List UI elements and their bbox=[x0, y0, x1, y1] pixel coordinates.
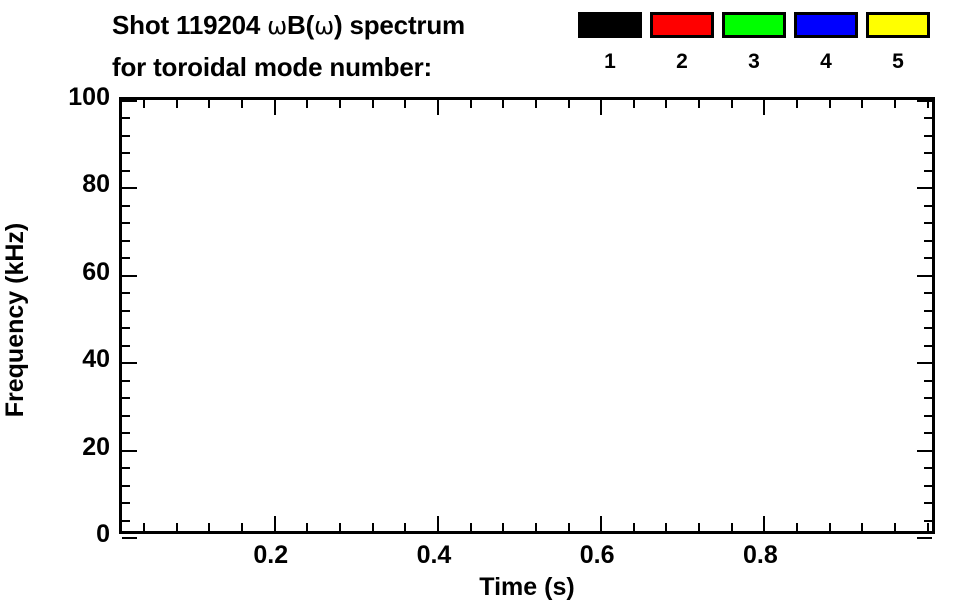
x-minor-tick bbox=[372, 100, 374, 108]
y-major-tick bbox=[122, 362, 137, 364]
figure-canvas: Shot 119204 ωB(ω) spectrum for toroidal … bbox=[0, 0, 963, 615]
x-minor-tick bbox=[502, 523, 504, 531]
x-minor-tick bbox=[829, 523, 831, 531]
legend-entry-3[interactable]: 3 bbox=[722, 12, 786, 38]
x-minor-tick bbox=[665, 523, 667, 531]
y-minor-tick bbox=[924, 345, 932, 347]
y-minor-tick bbox=[122, 432, 130, 434]
x-minor-tick bbox=[143, 523, 145, 531]
y-major-tick bbox=[122, 187, 137, 189]
x-major-tick bbox=[437, 100, 439, 115]
chart-title-mid: B( bbox=[287, 10, 314, 40]
y-minor-tick bbox=[122, 152, 130, 154]
legend-entry-1[interactable]: 1 bbox=[578, 12, 642, 38]
x-minor-tick bbox=[339, 523, 341, 531]
x-minor-tick bbox=[861, 523, 863, 531]
y-minor-tick bbox=[122, 345, 130, 347]
x-axis-title: Time (s) bbox=[119, 573, 935, 601]
x-minor-tick bbox=[698, 100, 700, 108]
x-minor-tick bbox=[894, 523, 896, 531]
chart-title-line-2: for toroidal mode number: bbox=[112, 52, 432, 82]
x-minor-tick bbox=[633, 100, 635, 108]
x-minor-tick bbox=[796, 100, 798, 108]
y-minor-tick bbox=[924, 520, 932, 522]
y-minor-tick bbox=[924, 117, 932, 119]
legend-label-4: 4 bbox=[794, 50, 858, 74]
y-axis-title: Frequency (kHz) bbox=[0, 100, 30, 540]
x-major-tick bbox=[763, 100, 765, 115]
legend-swatch-5 bbox=[866, 12, 930, 38]
x-minor-tick bbox=[698, 523, 700, 531]
x-minor-tick bbox=[208, 523, 210, 531]
y-minor-tick bbox=[122, 170, 130, 172]
x-major-tick bbox=[600, 100, 602, 115]
y-minor-tick bbox=[122, 520, 130, 522]
y-minor-tick bbox=[122, 117, 130, 119]
y-minor-tick bbox=[924, 432, 932, 434]
legend: 1 2 3 4 5 bbox=[578, 12, 930, 90]
x-minor-tick bbox=[404, 100, 406, 108]
x-minor-tick bbox=[372, 523, 374, 531]
omega-symbol-2: ω bbox=[314, 12, 334, 40]
x-minor-tick bbox=[568, 523, 570, 531]
legend-swatch-4 bbox=[794, 12, 858, 38]
y-major-tick bbox=[122, 275, 137, 277]
x-minor-tick bbox=[143, 100, 145, 108]
y-minor-tick bbox=[122, 485, 130, 487]
x-minor-tick bbox=[176, 100, 178, 108]
x-tick-label: 0.2 bbox=[211, 541, 331, 569]
x-minor-tick bbox=[535, 523, 537, 531]
x-minor-tick bbox=[568, 100, 570, 108]
x-minor-tick bbox=[470, 100, 472, 108]
y-major-tick bbox=[917, 187, 932, 189]
x-minor-tick bbox=[502, 100, 504, 108]
y-minor-tick bbox=[122, 502, 130, 504]
y-major-tick bbox=[917, 275, 932, 277]
x-minor-tick bbox=[665, 100, 667, 108]
x-minor-tick bbox=[861, 100, 863, 108]
y-minor-tick bbox=[924, 380, 932, 382]
legend-label-2: 2 bbox=[650, 50, 714, 74]
x-minor-tick bbox=[241, 523, 243, 531]
x-minor-tick bbox=[633, 523, 635, 531]
x-minor-tick bbox=[894, 100, 896, 108]
plot-frame bbox=[119, 97, 935, 534]
y-minor-tick bbox=[924, 170, 932, 172]
y-minor-tick bbox=[924, 310, 932, 312]
x-minor-tick bbox=[731, 100, 733, 108]
legend-label-3: 3 bbox=[722, 50, 786, 74]
plot-data-area[interactable] bbox=[122, 100, 932, 531]
x-major-tick bbox=[600, 516, 602, 531]
legend-entry-2[interactable]: 2 bbox=[650, 12, 714, 38]
y-minor-tick bbox=[122, 257, 130, 259]
y-minor-tick bbox=[924, 485, 932, 487]
legend-swatch-3 bbox=[722, 12, 786, 38]
x-minor-tick bbox=[731, 523, 733, 531]
x-minor-tick bbox=[535, 100, 537, 108]
y-major-tick bbox=[122, 450, 137, 452]
x-tick-label: 0.6 bbox=[537, 541, 657, 569]
x-minor-tick bbox=[404, 523, 406, 531]
x-minor-tick bbox=[339, 100, 341, 108]
y-minor-tick bbox=[122, 380, 130, 382]
legend-label-1: 1 bbox=[578, 50, 642, 74]
y-minor-tick bbox=[122, 222, 130, 224]
y-major-tick bbox=[917, 537, 932, 539]
y-minor-tick bbox=[924, 502, 932, 504]
y-minor-tick bbox=[924, 205, 932, 207]
y-minor-tick bbox=[122, 415, 130, 417]
y-minor-tick bbox=[924, 327, 932, 329]
x-minor-tick bbox=[927, 523, 929, 531]
y-minor-tick bbox=[924, 257, 932, 259]
y-minor-tick bbox=[924, 240, 932, 242]
y-major-tick bbox=[917, 362, 932, 364]
x-minor-tick bbox=[829, 100, 831, 108]
legend-swatch-2 bbox=[650, 12, 714, 38]
legend-swatch-1 bbox=[578, 12, 642, 38]
x-major-tick bbox=[274, 100, 276, 115]
x-major-tick bbox=[274, 516, 276, 531]
x-minor-tick bbox=[208, 100, 210, 108]
y-minor-tick bbox=[924, 152, 932, 154]
y-minor-tick bbox=[122, 135, 130, 137]
x-tick-label: 0.8 bbox=[700, 541, 820, 569]
x-minor-tick bbox=[241, 100, 243, 108]
chart-title-prefix: Shot 119204 bbox=[112, 10, 267, 40]
y-minor-tick bbox=[122, 397, 130, 399]
y-minor-tick bbox=[122, 205, 130, 207]
x-axis-tick-labels: 0.20.40.60.8 bbox=[119, 541, 935, 575]
legend-label-5: 5 bbox=[866, 50, 930, 74]
x-minor-tick bbox=[470, 523, 472, 531]
x-minor-tick bbox=[306, 523, 308, 531]
y-minor-tick bbox=[924, 467, 932, 469]
y-minor-tick bbox=[924, 135, 932, 137]
x-major-tick bbox=[763, 516, 765, 531]
y-major-tick bbox=[122, 537, 137, 539]
y-axis-title-wrapper: Frequency (kHz) bbox=[0, 305, 235, 335]
omega-symbol-1: ω bbox=[267, 12, 287, 40]
legend-entry-5[interactable]: 5 bbox=[866, 12, 930, 38]
y-minor-tick bbox=[122, 292, 130, 294]
x-major-tick bbox=[437, 516, 439, 531]
y-minor-tick bbox=[924, 292, 932, 294]
chart-title-suffix: ) spectrum bbox=[334, 10, 465, 40]
y-minor-tick bbox=[122, 467, 130, 469]
x-minor-tick bbox=[176, 523, 178, 531]
legend-entry-4[interactable]: 4 bbox=[794, 12, 858, 38]
y-major-tick bbox=[917, 450, 932, 452]
y-minor-tick bbox=[122, 240, 130, 242]
y-minor-tick bbox=[924, 415, 932, 417]
x-minor-tick bbox=[796, 523, 798, 531]
x-minor-tick bbox=[306, 100, 308, 108]
y-major-tick bbox=[122, 100, 137, 102]
chart-title-line-1: Shot 119204 ωB(ω) spectrum bbox=[112, 10, 465, 41]
y-minor-tick bbox=[924, 397, 932, 399]
x-tick-label: 0.4 bbox=[374, 541, 494, 569]
y-major-tick bbox=[917, 100, 932, 102]
y-minor-tick bbox=[924, 222, 932, 224]
